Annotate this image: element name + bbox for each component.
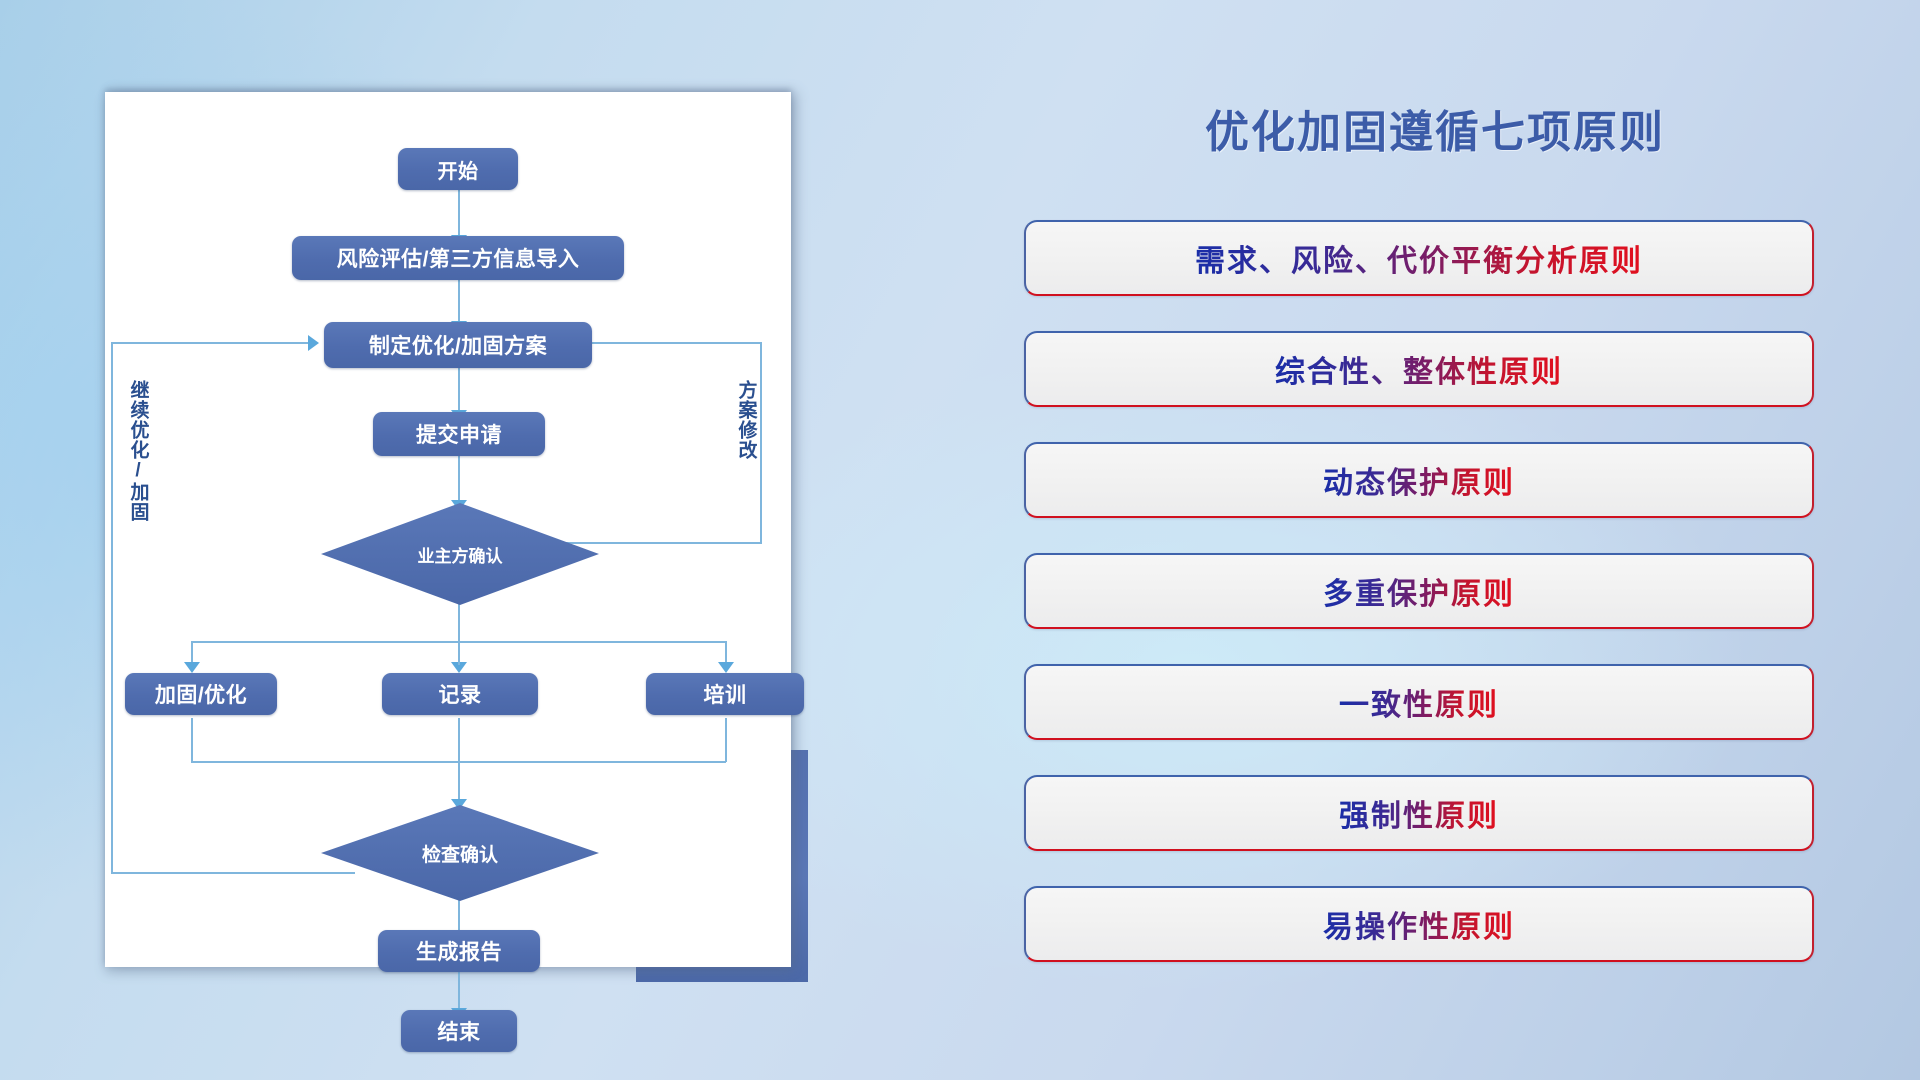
- node-submit-application[interactable]: 提交申请: [373, 412, 545, 456]
- node-reinforce-optimize[interactable]: 加固/优化: [125, 673, 277, 715]
- node-training[interactable]: 培训: [646, 673, 804, 715]
- node-record-label: 记录: [439, 679, 482, 709]
- node-training-label: 培训: [704, 679, 747, 709]
- slide-root: 继续优化/加固 方案修改: [0, 0, 1920, 1080]
- principle-card-5[interactable]: 一致性原则: [1024, 664, 1814, 740]
- node-end[interactable]: 结束: [401, 1010, 517, 1052]
- node-risk-assessment-label: 风险评估/第三方信息导入: [337, 243, 580, 273]
- edge-left-loop-bottom: [111, 872, 355, 874]
- principle-card-2[interactable]: 综合性、整体性原则: [1024, 331, 1814, 407]
- edge-owner-fanout-stem: [458, 602, 460, 642]
- edge-label-left-loop: 继续优化/加固: [127, 380, 148, 522]
- edge-fanout-right-arrowhead: [718, 662, 734, 673]
- node-generate-report[interactable]: 生成报告: [378, 930, 540, 972]
- edge-record-check: [458, 718, 460, 804]
- edge-risk-plan: [458, 278, 460, 326]
- edge-submit-owner: [458, 455, 460, 505]
- edge-right-loop-vertical: [760, 342, 762, 542]
- edge-plan-submit: [458, 365, 460, 415]
- node-plan[interactable]: 制定优化/加固方案: [324, 322, 592, 368]
- principle-card-6[interactable]: 强制性原则: [1024, 775, 1814, 851]
- principle-card-2-label: 综合性、整体性原则: [1275, 347, 1563, 391]
- edge-report-end: [458, 972, 460, 1012]
- principle-card-6-label: 强制性原则: [1339, 791, 1499, 835]
- principle-card-1[interactable]: 需求、风险、代价平衡分析原则: [1024, 220, 1814, 296]
- edge-left-loop-top: [111, 342, 310, 344]
- edge-label-right-loop: 方案修改: [735, 380, 756, 460]
- flowchart-card: 继续优化/加固 方案修改: [105, 92, 791, 967]
- node-reinforce-optimize-label: 加固/优化: [155, 679, 247, 709]
- edge-start-risk: [458, 187, 460, 239]
- principle-card-7-label: 易操作性原则: [1323, 902, 1515, 946]
- node-check-confirm[interactable]: 检查确认: [321, 805, 599, 901]
- node-start[interactable]: 开始: [398, 148, 518, 190]
- node-owner-confirm-label: 业主方确认: [418, 542, 503, 567]
- principles-panel: 优化加固遵循七项原则 需求、风险、代价平衡分析原则 综合性、整体性原则 动态保护…: [1020, 96, 1850, 996]
- node-risk-assessment[interactable]: 风险评估/第三方信息导入: [292, 236, 624, 280]
- principles-list: 需求、风险、代价平衡分析原则 综合性、整体性原则 动态保护原则 多重保护原则 一…: [1024, 220, 1814, 997]
- principle-card-5-label: 一致性原则: [1339, 680, 1499, 724]
- node-submit-application-label: 提交申请: [416, 419, 502, 449]
- edge-fanout-mid: [458, 641, 460, 665]
- flowchart-canvas: 继续优化/加固 方案修改: [105, 92, 791, 967]
- node-record[interactable]: 记录: [382, 673, 538, 715]
- principle-card-1-label: 需求、风险、代价平衡分析原则: [1195, 236, 1643, 280]
- node-generate-report-label: 生成报告: [416, 936, 502, 966]
- node-start-label: 开始: [438, 155, 479, 184]
- principle-card-4-label: 多重保护原则: [1323, 569, 1515, 613]
- edge-fanin-left: [191, 718, 193, 762]
- edge-left-loop-arrowhead: [308, 335, 319, 351]
- node-plan-label: 制定优化/加固方案: [369, 330, 547, 360]
- principle-card-3[interactable]: 动态保护原则: [1024, 442, 1814, 518]
- principle-card-7[interactable]: 易操作性原则: [1024, 886, 1814, 962]
- node-owner-confirm[interactable]: 业主方确认: [321, 503, 599, 605]
- node-end-label: 结束: [438, 1016, 481, 1046]
- edge-fanout-left-arrowhead: [184, 662, 200, 673]
- edge-left-loop-vertical: [111, 342, 113, 872]
- edge-fanin-right: [725, 718, 727, 762]
- node-check-confirm-label: 检查确认: [422, 840, 498, 867]
- principle-card-4[interactable]: 多重保护原则: [1024, 553, 1814, 629]
- principle-card-3-label: 动态保护原则: [1323, 458, 1515, 502]
- principles-title: 优化加固遵循七项原则: [1020, 96, 1850, 160]
